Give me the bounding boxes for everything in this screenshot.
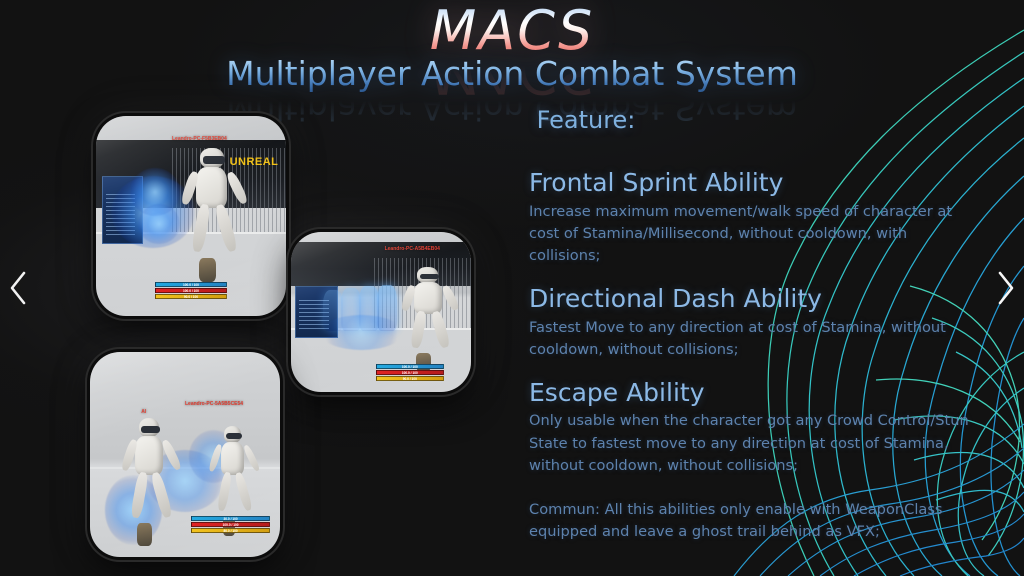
gallery-thumbnail-escape-ability[interactable]: Leandro-PC-5A5B5CE54 AI 30.0 / 100 — [90, 352, 280, 557]
hud-bars: 30.0 / 100 100.0 / 100 80.0 / 100 — [191, 516, 271, 534]
hud-stamina-value: 100.0 / 100 — [377, 365, 443, 368]
common-note: Commun: All this abilities only enable w… — [529, 499, 979, 543]
player-nametag: Leandro-PC-A5B4EB04 — [385, 246, 440, 252]
hud-shield-value: 90.0 / 100 — [377, 377, 443, 380]
hud-stamina-value: 30.0 / 100 — [192, 517, 270, 520]
hud-health-value: 100.0 / 100 — [377, 371, 443, 374]
hud-bars: 100.0 / 100 100.0 / 100 90.0 / 100 — [376, 364, 444, 382]
feature-heading: Escape Ability — [529, 378, 979, 408]
feature-list: Frontal Sprint Ability Increase maximum … — [529, 168, 979, 543]
feature-body: Fastest Move to any direction at cost of… — [529, 317, 979, 361]
hud-shield-value: 80.0 / 100 — [192, 529, 270, 532]
hud-bars: 100.0 / 100 100.0 / 100 90.0 / 100 — [155, 282, 227, 300]
game-scene: Leandro-PC-5A5B5CE54 AI 30.0 / 100 — [90, 352, 280, 557]
hud-health-value: 100.0 / 100 — [156, 289, 226, 292]
hud-shield-value: 90.0 / 100 — [156, 295, 226, 298]
hud-stamina-value: 100.0 / 100 — [156, 283, 226, 286]
game-scene: UNREAL Leandro-PC-F5B3EB04 100.0 / 100 1… — [96, 116, 286, 316]
feature-body: Only usable when the character got any C… — [529, 410, 979, 477]
player-nametag: Leandro-PC-F5B3EB04 — [172, 136, 227, 142]
feature-heading: Frontal Sprint Ability — [529, 168, 979, 198]
feature-body: Increase maximum movement/walk speed of … — [529, 201, 979, 268]
gallery-prev-button[interactable] — [6, 267, 32, 309]
feature-heading: Directional Dash Ability — [529, 284, 979, 314]
ai-nametag: AI — [141, 409, 146, 415]
feature-item-escape: Escape Ability Only usable when the char… — [529, 378, 979, 477]
feature-item-frontal-sprint: Frontal Sprint Ability Increase maximum … — [529, 168, 979, 267]
feature-item-directional-dash: Directional Dash Ability Fastest Move to… — [529, 284, 979, 361]
player-nametag: Leandro-PC-5A5B5CE54 — [185, 401, 243, 407]
hud-health-value: 100.0 / 100 — [192, 523, 270, 526]
gallery-thumbnail-frontal-sprint[interactable]: UNREAL Leandro-PC-F5B3EB04 100.0 / 100 1… — [96, 116, 286, 316]
screenshot-gallery: UNREAL Leandro-PC-F5B3EB04 100.0 / 100 1… — [0, 0, 520, 576]
gallery-thumbnail-directional-dash[interactable]: Leandro-PC-A5B4EB04 100.0 / 100 100.0 / … — [291, 232, 471, 392]
game-scene: Leandro-PC-A5B4EB04 100.0 / 100 100.0 / … — [291, 232, 471, 392]
gallery-next-button[interactable] — [992, 267, 1018, 309]
